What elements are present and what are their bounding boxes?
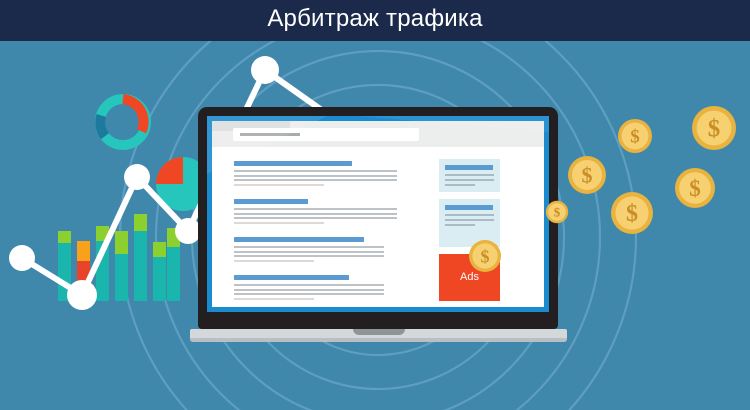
article-line [234,222,324,224]
sidebar-ad-line [445,224,475,226]
coin-upper-right: $ [691,105,737,151]
line-node [67,280,97,310]
article-item[interactable] [234,275,384,302]
header-bar: Арбитраж трафика [0,0,750,41]
article-line [234,251,384,253]
svg-text:$: $ [708,115,721,142]
article-line [234,284,384,286]
line-node [251,56,279,84]
sidebar-ad-line [445,214,494,216]
article-line [234,260,314,262]
svg-text:$: $ [582,162,593,187]
article-line [234,175,397,177]
article-line [234,170,397,172]
svg-text:$: $ [481,247,490,267]
sidebar-ad-line [445,179,494,181]
article-line [234,246,384,248]
line-node [124,164,150,190]
article-line [234,217,397,219]
article-line [234,179,397,181]
article-line [234,184,324,186]
article-headline [234,237,364,242]
article-headline [234,199,308,204]
line-node [9,245,35,271]
sidebar-ad-headline [445,165,493,170]
coin-lower-mid: $ [610,191,654,235]
article-line [234,293,384,295]
article-item[interactable] [234,199,397,226]
url-text [240,133,300,136]
article-line [234,213,397,215]
banner: Арбитраж трафика [0,0,750,410]
svg-text:$: $ [630,127,640,148]
sidebar-ad-line [445,219,494,221]
article-headline [234,161,352,166]
article-line [234,255,384,257]
coin-right: $ [674,167,716,209]
sidebar-ad-box[interactable] [439,159,500,192]
laptop-base-shadow [190,338,567,342]
sidebar-ad-headline [445,205,493,210]
svg-text:$: $ [626,201,638,227]
article-item[interactable] [234,237,384,264]
sidebar-ad-line [445,174,494,176]
page-body: Ads $ [212,147,544,307]
article-headline [234,275,349,280]
svg-text:$: $ [554,205,561,220]
svg-text:$: $ [689,176,701,201]
coin-upper-mid: $ [617,118,653,154]
sidebar-ad-line [445,184,475,186]
coin-screen: $ [468,239,502,273]
article-line [234,208,397,210]
laptop-notch [353,329,405,335]
coin-edge-left: $ [545,200,569,224]
article-item[interactable] [234,161,397,188]
browser-toolbar [212,121,544,147]
laptop-screen: Ads $ [212,121,544,307]
article-line [234,298,314,300]
article-line [234,289,384,291]
illustration-stage: Ads $ $ [0,41,750,410]
coin-mid-left: $ [567,155,607,195]
page-title: Арбитраж трафика [0,0,750,41]
